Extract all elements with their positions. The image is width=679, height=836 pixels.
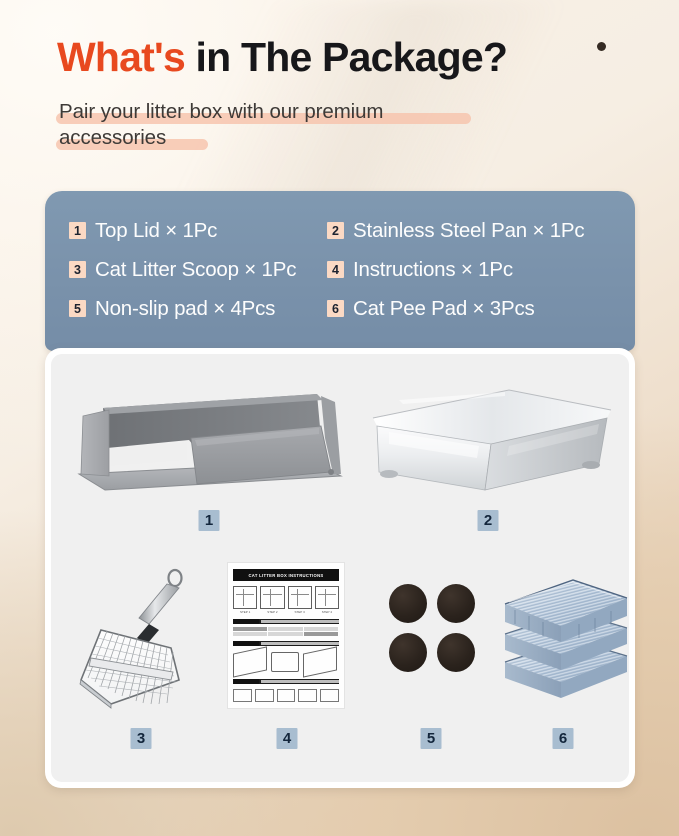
- sheet-caption-1: STEP 1: [233, 610, 257, 614]
- top-lid-image: [69, 382, 349, 504]
- product-gallery-card: 1: [45, 348, 635, 788]
- product-cat-pee-pads: 6: [493, 558, 633, 748]
- item-number-badge-3: 3: [69, 261, 86, 278]
- product-number-1: 1: [199, 510, 220, 531]
- product-number-2: 2: [478, 510, 499, 531]
- package-list-row-1: 1 Top Lid × 1Pc 2 Stainless Steel Pan × …: [69, 211, 611, 250]
- sheet-section-bar-2: [233, 641, 339, 646]
- subtitle-line-1: Pair your litter box with our premium: [59, 100, 529, 126]
- sheet-iso-figure-2: [271, 652, 299, 672]
- sheet-caption-3: STEP 3: [288, 610, 312, 614]
- sheet-spec-table: [233, 627, 339, 636]
- sheet-part-icon: [233, 689, 252, 702]
- package-list-item-3: 3 Cat Litter Scoop × 1Pc: [69, 258, 327, 282]
- package-list-item-2: 2 Stainless Steel Pan × 1Pc: [327, 219, 584, 243]
- stainless-pan-image: [359, 386, 617, 504]
- sheet-part-icon: [320, 689, 339, 702]
- page-subtitle: Pair your litter box with our premium ac…: [59, 100, 529, 152]
- sheet-assembly-figures: [233, 650, 339, 674]
- subtitle-text-2: accessories: [59, 126, 529, 150]
- sheet-title-bar: CAT LITTER BOX INSTRUCTIONS: [233, 569, 339, 581]
- item-label-3: Cat Litter Scoop × 1Pc: [95, 258, 296, 282]
- product-non-slip-pads: 5: [371, 562, 491, 752]
- non-slip-pad: [437, 584, 475, 623]
- package-list-item-1: 1 Top Lid × 1Pc: [69, 219, 327, 243]
- sheet-section-bar-1: [233, 619, 339, 624]
- item-label-4: Instructions × 1Pc: [353, 258, 513, 282]
- sheet-table-row: [233, 627, 339, 631]
- item-label-5: Non-slip pad × 4Pcs: [95, 297, 275, 321]
- non-slip-pad: [437, 633, 475, 672]
- instructions-sheet-image: CAT LITTER BOX INSTRUCTIONS STEP 1 STEP …: [227, 562, 345, 709]
- package-contents-panel: 1 Top Lid × 1Pc 2 Stainless Steel Pan × …: [45, 191, 635, 351]
- item-number-badge-4: 4: [327, 261, 344, 278]
- cat-pee-pads-image: [495, 558, 633, 718]
- subtitle-text-1: Pair your litter box with our premium: [59, 100, 529, 124]
- product-number-6: 6: [553, 728, 574, 749]
- item-label-6: Cat Pee Pad × 3Pcs: [353, 297, 535, 321]
- item-number-badge-1: 1: [69, 222, 86, 239]
- sheet-figure-row-top: STEP 1 STEP 2 STEP 3 STEP 4: [233, 586, 339, 614]
- product-instructions: CAT LITTER BOX INSTRUCTIONS STEP 1 STEP …: [217, 562, 357, 752]
- decorative-dot: [597, 42, 606, 51]
- non-slip-pad: [389, 584, 427, 623]
- product-gallery-area: 1: [51, 354, 629, 782]
- sheet-iso-figure-3: [303, 646, 337, 677]
- sheet-iso-figure-1: [233, 646, 267, 677]
- item-label-2: Stainless Steel Pan × 1Pc: [353, 219, 584, 243]
- page-title: What's in The Package?: [57, 34, 507, 81]
- sheet-diagram-3: [288, 586, 312, 609]
- sheet-parts-row: [233, 689, 339, 702]
- sheet-diagram-1: [233, 586, 257, 609]
- non-slip-pad: [389, 633, 427, 672]
- sheet-caption-4: STEP 4: [315, 610, 339, 614]
- product-stainless-pan: 2: [359, 382, 617, 532]
- product-number-5: 5: [421, 728, 442, 749]
- litter-scoop-image: [67, 562, 215, 722]
- package-list-item-6: 6 Cat Pee Pad × 3Pcs: [327, 297, 535, 321]
- item-number-badge-5: 5: [69, 300, 86, 317]
- item-label-1: Top Lid × 1Pc: [95, 219, 217, 243]
- sheet-diagram-4: [315, 586, 339, 609]
- package-list-row-3: 5 Non-slip pad × 4Pcs 6 Cat Pee Pad × 3P…: [69, 289, 611, 328]
- product-top-lid: 1: [69, 382, 349, 532]
- page-title-accent: What's: [57, 34, 185, 80]
- subtitle-line-2: accessories: [59, 126, 529, 152]
- product-litter-scoop: 3: [67, 562, 215, 752]
- non-slip-pads-image: [389, 584, 475, 672]
- product-number-3: 3: [131, 728, 152, 749]
- sheet-table-row: [233, 632, 339, 636]
- sheet-part-icon: [255, 689, 274, 702]
- sheet-caption-2: STEP 2: [260, 610, 284, 614]
- package-list-item-5: 5 Non-slip pad × 4Pcs: [69, 297, 327, 321]
- sheet-diagram-2: [260, 586, 284, 609]
- sheet-part-icon: [298, 689, 317, 702]
- package-list-item-4: 4 Instructions × 1Pc: [327, 258, 513, 282]
- item-number-badge-2: 2: [327, 222, 344, 239]
- sheet-title: CAT LITTER BOX INSTRUCTIONS: [248, 573, 323, 578]
- package-list-row-2: 3 Cat Litter Scoop × 1Pc 4 Instructions …: [69, 250, 611, 289]
- sheet-part-icon: [277, 689, 296, 702]
- page-title-rest: in The Package?: [185, 34, 507, 80]
- product-number-4: 4: [277, 728, 298, 749]
- sheet-section-bar-3: [233, 679, 339, 684]
- item-number-badge-6: 6: [327, 300, 344, 317]
